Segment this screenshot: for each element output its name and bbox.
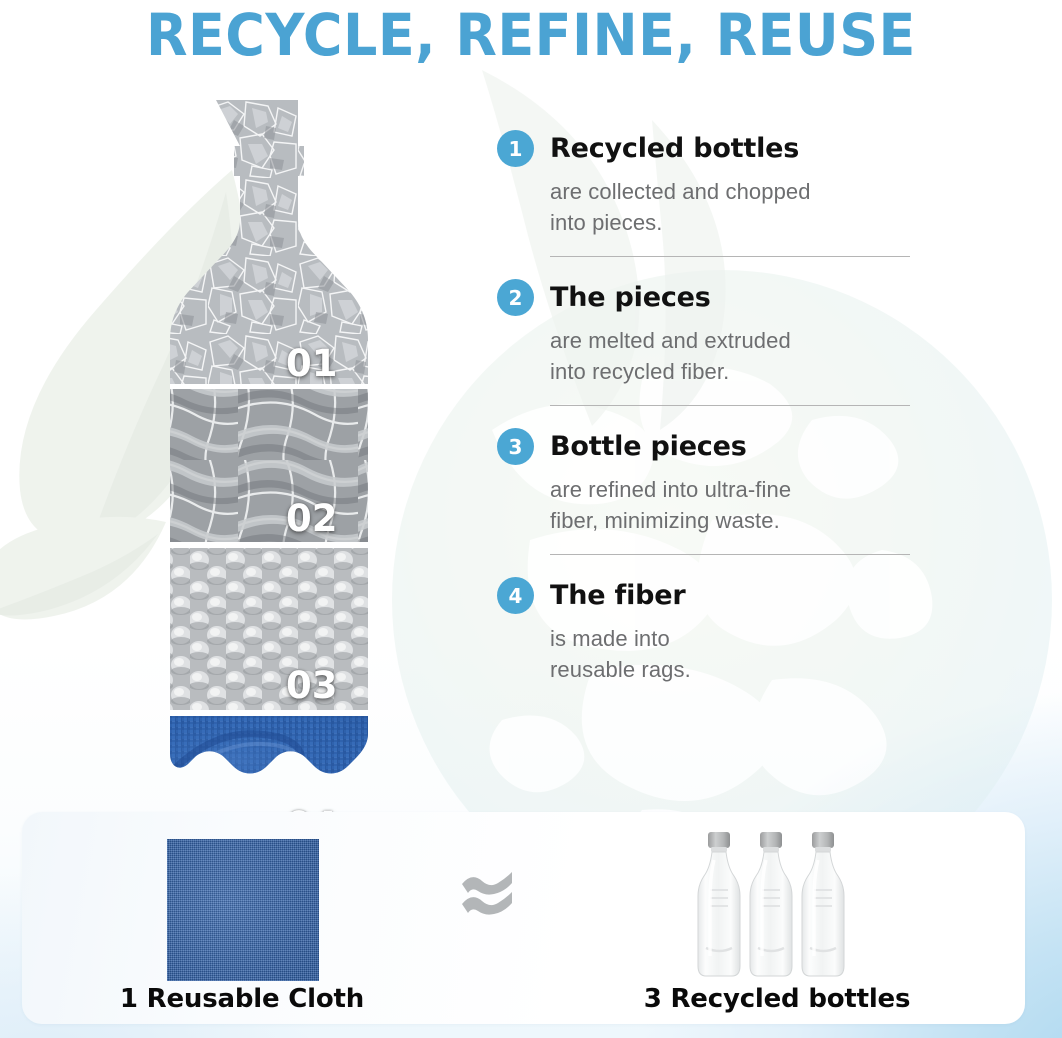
step-2-body: are melted and extruded into recycled fi… bbox=[550, 325, 927, 387]
step-1-title: Recycled bottles bbox=[550, 133, 799, 165]
step-3-number-badge: 3 bbox=[497, 428, 534, 465]
step-2-number-badge: 2 bbox=[497, 279, 534, 316]
segmented-bottle-diagram: 01 02 03 04 bbox=[118, 100, 396, 800]
step-4-header: 4 The fiber bbox=[497, 577, 927, 614]
recycled-bottles-label: 3 Recycled bottles bbox=[644, 984, 911, 1014]
three-recycled-bottles-icon bbox=[694, 824, 864, 984]
step-4-body: is made into reusable rags. bbox=[550, 623, 927, 685]
process-step-1: 1 Recycled bottles are collected and cho… bbox=[497, 130, 927, 257]
step-1-number-badge: 1 bbox=[497, 130, 534, 167]
right-label-wrap: 3 Recycled bottles bbox=[567, 984, 987, 1014]
step-4-title: The fiber bbox=[550, 580, 686, 612]
step-4-number-badge: 4 bbox=[497, 577, 534, 614]
equivalence-card-inner: 1 Reusable Cloth 3 Recycled bottles bbox=[22, 812, 1025, 1024]
process-step-3: 3 Bottle pieces are refined into ultra-f… bbox=[497, 428, 927, 555]
step-3-body: are refined into ultra-fine fiber, minim… bbox=[550, 474, 927, 536]
step-3-header: 3 Bottle pieces bbox=[497, 428, 927, 465]
left-label-wrap: 1 Reusable Cloth bbox=[22, 984, 462, 1014]
step-2-header: 2 The pieces bbox=[497, 279, 927, 316]
step-1-divider bbox=[550, 256, 910, 257]
step-3-title: Bottle pieces bbox=[550, 431, 747, 463]
step-1-header: 1 Recycled bottles bbox=[497, 130, 927, 167]
step-1-body: are collected and chopped into pieces. bbox=[550, 176, 927, 238]
reusable-cloth-label: 1 Reusable Cloth bbox=[120, 984, 364, 1014]
step-2-divider bbox=[550, 405, 910, 406]
step-3-divider bbox=[550, 554, 910, 555]
process-step-4: 4 The fiber is made into reusable rags. bbox=[497, 577, 927, 685]
step-2-title: The pieces bbox=[550, 282, 711, 314]
reusable-cloth-swatch-icon bbox=[167, 839, 319, 981]
page-title: RECYCLE, REFINE, REUSE bbox=[146, 2, 916, 68]
process-step-2: 2 The pieces are melted and extruded int… bbox=[497, 279, 927, 406]
approximately-equal-icon bbox=[456, 868, 518, 924]
title-bar: RECYCLE, REFINE, REUSE bbox=[0, 2, 1062, 68]
process-steps-list: 1 Recycled bottles are collected and cho… bbox=[497, 130, 927, 685]
equivalence-card: 1 Reusable Cloth 3 Recycled bottles bbox=[22, 812, 1025, 1024]
infographic-page: RECYCLE, REFINE, REUSE bbox=[0, 0, 1062, 1038]
